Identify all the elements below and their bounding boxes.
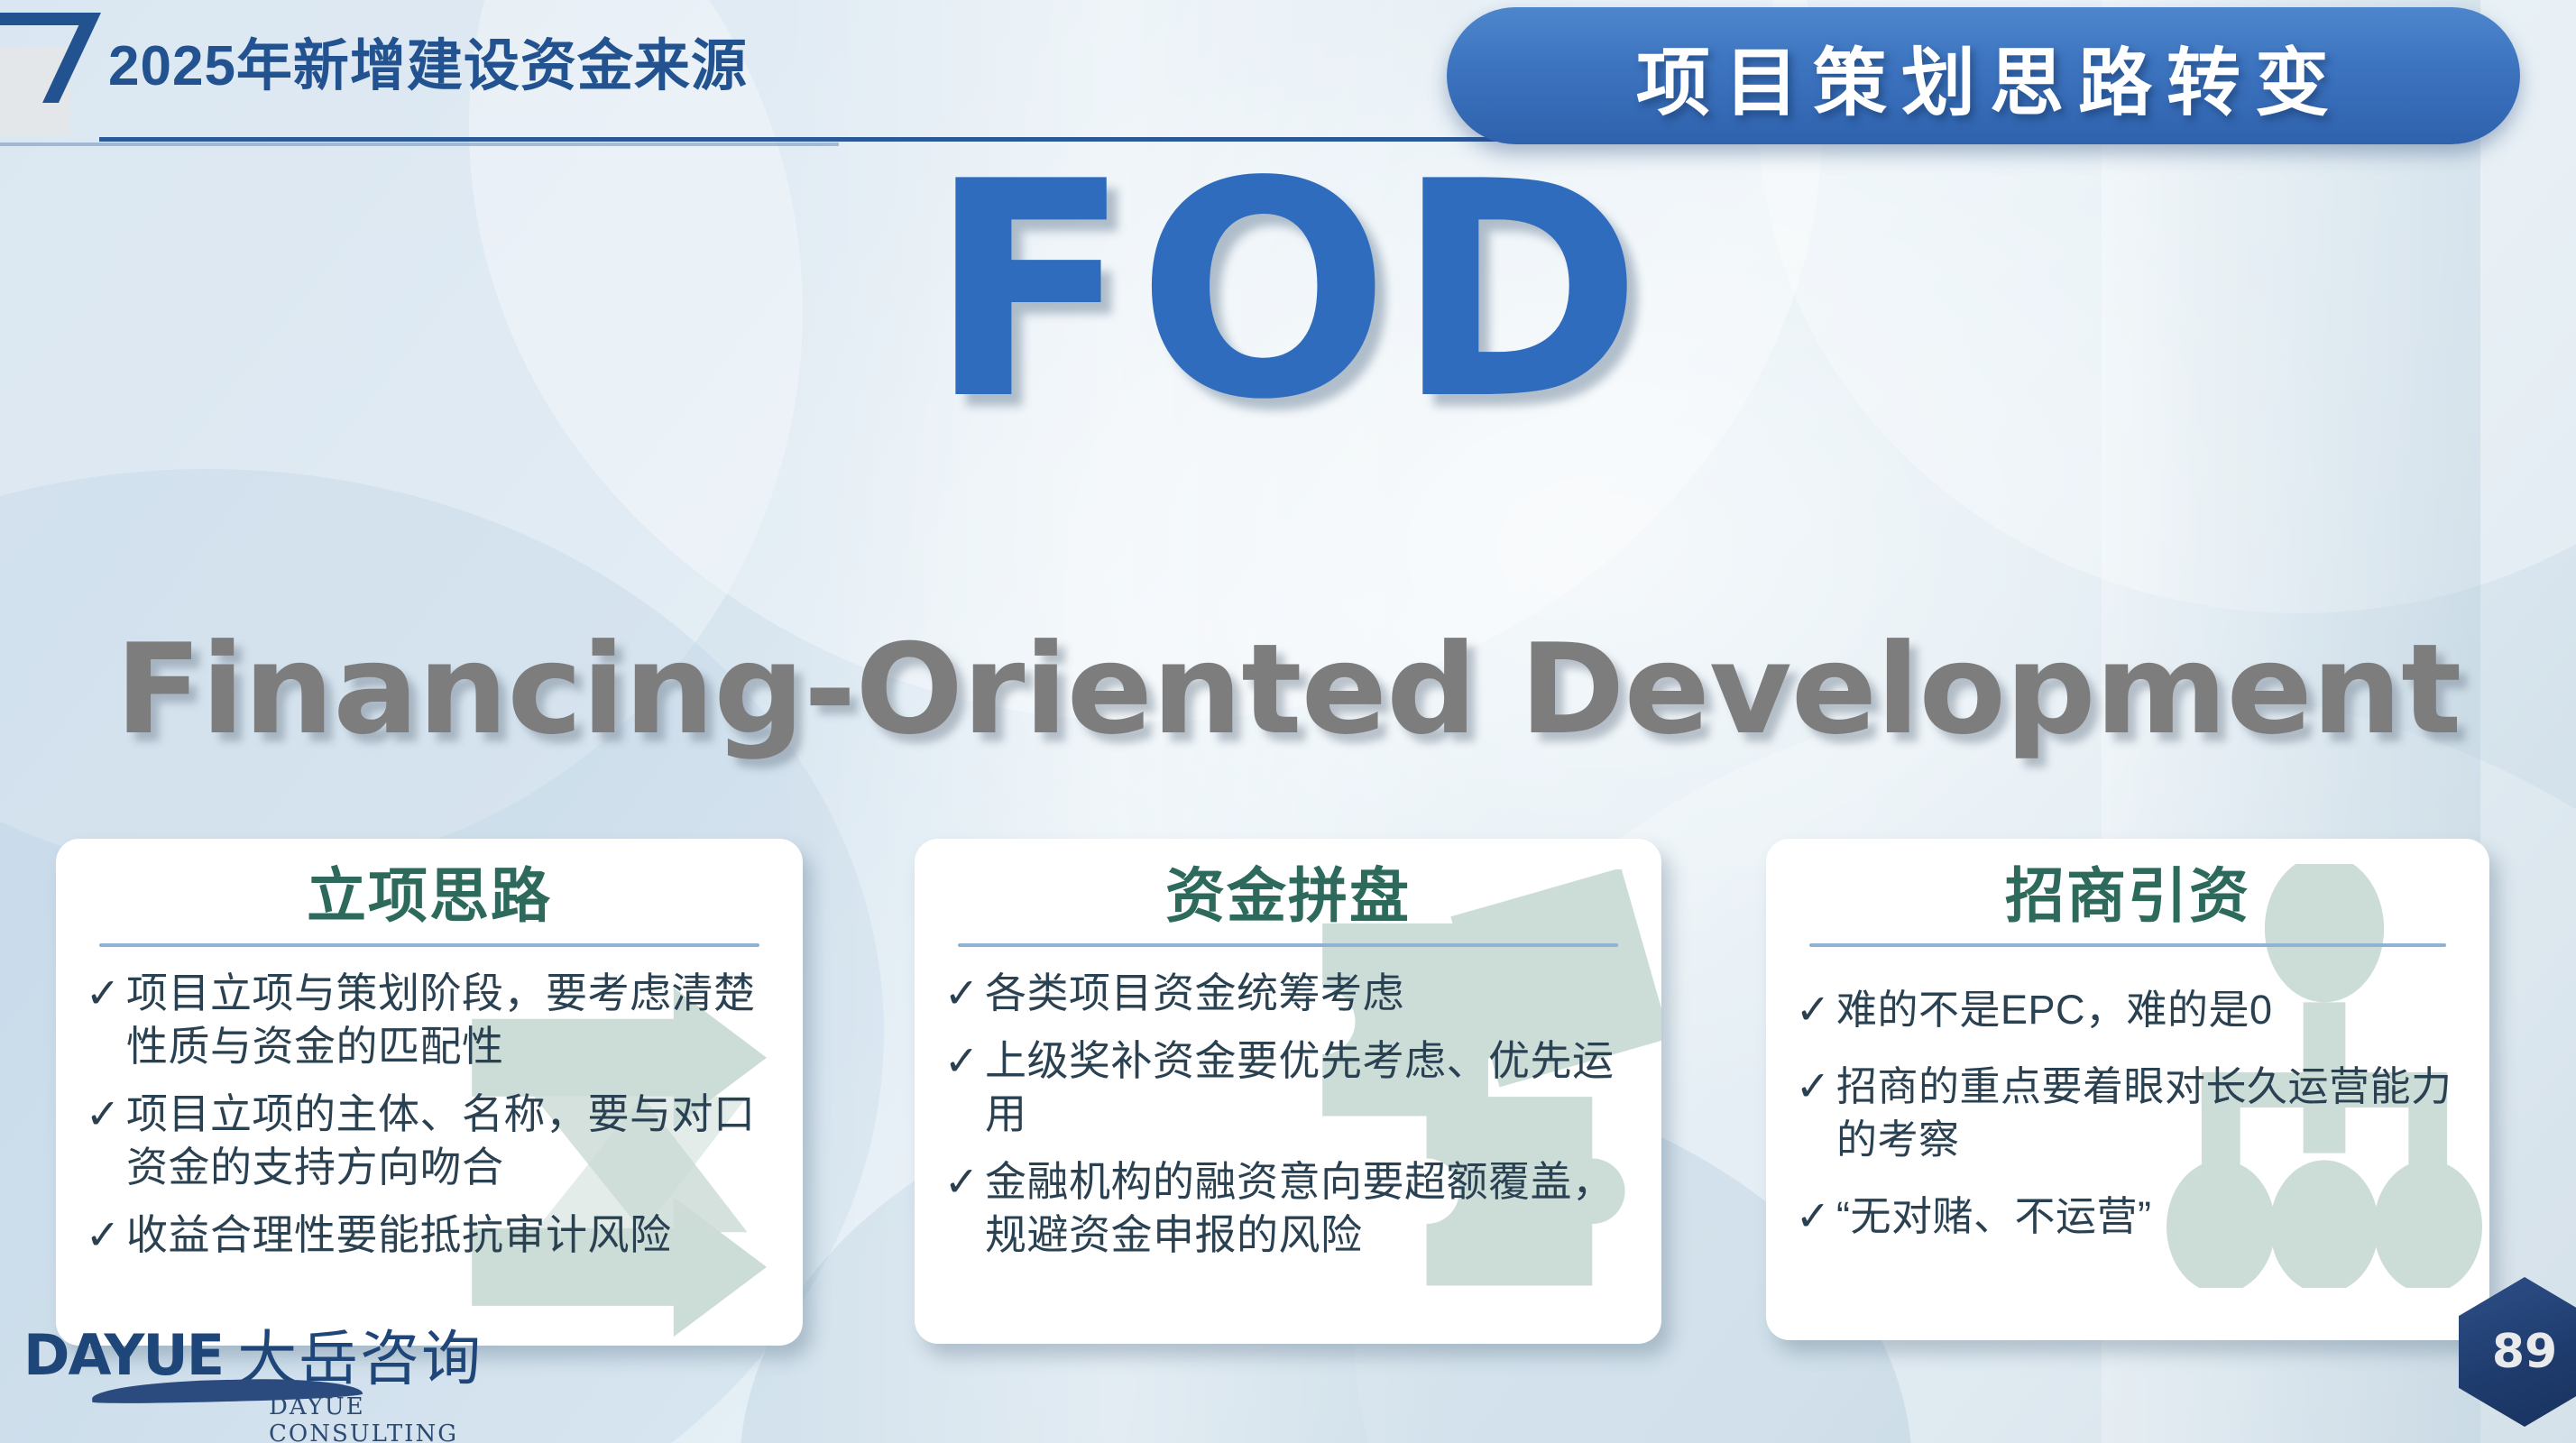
check-icon: ✓ [1789,1190,1836,1242]
card-zhaoshang-yinzi: 招商引资 ✓ 难的不是EPC，难的是0 ✓ 招商的重点要着眼对长久运营能力的考察… [1766,839,2489,1340]
card-heading: 立项思路 [56,862,803,929]
list-item: ✓ “无对赌、不运营” [1789,1190,2462,1243]
card-zijin-pinpan: 资金拼盘 ✓ 各类项目资金统筹考虑 ✓ 上级奖补资金要优先考虑、优先运用 ✓ 金… [915,839,1661,1344]
list-item: ✓ 上级奖补资金要优先考虑、优先运用 [938,1034,1634,1141]
seven-corner-mark-icon [0,0,106,135]
company-logo: DAYUE 大岳咨询 DAYUE CONSULTING [23,1322,529,1421]
card-divider [99,943,759,947]
card-divider [958,943,1618,947]
hero-tagline: Financing-Oriented Development [0,622,2576,758]
list-item: ✓ 项目立项的主体、名称，要与对口资金的支持方向吻合 [79,1088,776,1194]
logo-subtitle: DAYUE CONSULTING [269,1393,529,1443]
list-item-text: 收益合理性要能抵抗审计风险 [126,1209,672,1262]
list-item-text: 项目立项的主体、名称，要与对口资金的支持方向吻合 [126,1088,776,1194]
list-item: ✓ 金融机构的融资意向要超额覆盖，规避资金申报的风险 [938,1155,1634,1262]
slide-root: 2025年新增建设资金来源 项目策划思路转变 FOD Financing-Ori… [0,0,2576,1443]
card-bullet-list: ✓ 各类项目资金统筹考虑 ✓ 上级奖补资金要优先考虑、优先运用 ✓ 金融机构的融… [938,967,1634,1262]
card-bullet-list: ✓ 项目立项与策划阶段，要考虑清楚性质与资金的匹配性 ✓ 项目立项的主体、名称，… [79,967,776,1262]
logo-wordmark: DAYUE 大岳咨询 [23,1322,529,1388]
check-icon: ✓ [79,1088,126,1140]
card-divider [1809,943,2446,947]
list-item: ✓ 项目立项与策划阶段，要考虑清楚性质与资金的匹配性 [79,967,776,1073]
list-item-text: 难的不是EPC，难的是0 [1836,983,2273,1036]
list-item-text: 金融机构的融资意向要超额覆盖，规避资金申报的风险 [985,1155,1634,1262]
list-item: ✓ 收益合理性要能抵抗审计风险 [79,1209,776,1262]
card-bullet-list: ✓ 难的不是EPC，难的是0 ✓ 招商的重点要着眼对长久运营能力的考察 ✓ “无… [1789,983,2462,1243]
check-icon: ✓ [1789,1060,1836,1112]
section-badge-label: 项目策划思路转变 [1624,23,2343,130]
check-icon: ✓ [1789,983,1836,1035]
list-item-text: 招商的重点要着眼对长久运营能力的考察 [1836,1060,2462,1166]
list-item: ✓ 难的不是EPC，难的是0 [1789,983,2462,1036]
list-item-text: “无对赌、不运营” [1836,1190,2151,1243]
check-icon: ✓ [79,1209,126,1261]
page-title: 2025年新增建设资金来源 [108,20,748,101]
hero-acronym: FOD [0,142,2576,440]
list-item: ✓ 各类项目资金统筹考虑 [938,967,1634,1020]
check-icon: ✓ [938,967,985,1019]
logo-english-name: DAYUE [23,1322,223,1388]
card-lixiang-silu: 立项思路 ✓ 项目立项与策划阶段，要考虑清楚性质与资金的匹配性 ✓ 项目立项的主… [56,839,803,1346]
check-icon: ✓ [938,1155,985,1208]
list-item-text: 各类项目资金统筹考虑 [985,967,1404,1020]
card-heading: 招商引资 [1766,862,2489,929]
check-icon: ✓ [938,1034,985,1087]
card-heading: 资金拼盘 [915,862,1661,929]
list-item: ✓ 招商的重点要着眼对长久运营能力的考察 [1789,1060,2462,1166]
check-icon: ✓ [79,967,126,1019]
list-item-text: 上级奖补资金要优先考虑、优先运用 [985,1034,1634,1141]
list-item-text: 项目立项与策划阶段，要考虑清楚性质与资金的匹配性 [126,967,776,1073]
page-number: 89 [2492,1325,2557,1379]
